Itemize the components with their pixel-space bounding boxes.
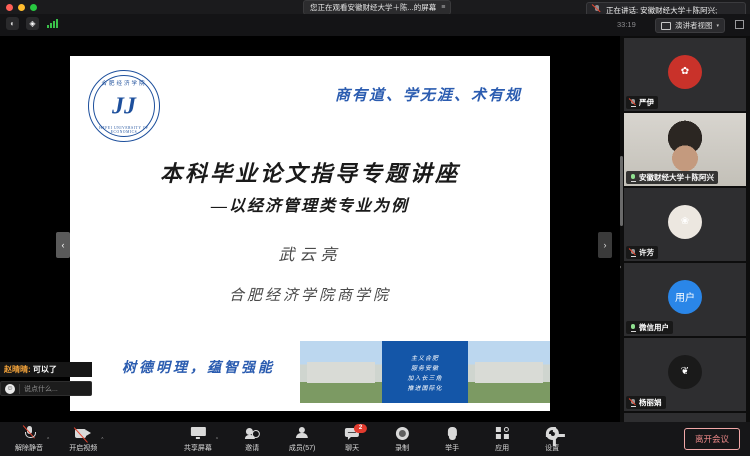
participant-namebar: 微信用户 <box>626 321 673 334</box>
logo-arc-top-text: 合肥经济学院 <box>89 79 159 87</box>
participant-name: 安徽财经大学＋陈阿兴 <box>639 172 714 183</box>
gear-icon <box>546 426 559 441</box>
invite-icon <box>245 426 260 441</box>
mic-on-icon <box>630 324 636 332</box>
unmute-button[interactable]: 解除静音 <box>12 426 46 453</box>
share-screen-button[interactable]: 共享屏幕 <box>181 426 215 453</box>
slide-subtitle: —以经济管理类专业为例 <box>70 192 550 216</box>
emoji-icon[interactable]: ☺ <box>5 384 15 394</box>
fullscreen-icon[interactable] <box>735 20 744 29</box>
chevron-down-icon[interactable]: ▾ <box>717 23 720 29</box>
share-screen-icon <box>190 426 205 441</box>
collapse-panel-button[interactable]: ‹ <box>56 232 70 258</box>
participant-name: 微信用户 <box>639 322 669 333</box>
security-icon[interactable]: ◈ <box>26 17 39 30</box>
logo-arc-bottom-text: HEFEI UNIVERSITY OF ECONOMICS <box>89 126 159 134</box>
shared-screen-stage: 合肥经济学院 JJ HEFEI UNIVERSITY OF ECONOMICS … <box>0 36 620 422</box>
mic-muted-icon <box>630 399 636 407</box>
shield-icon[interactable]: ◐ <box>6 17 19 30</box>
campus-slogan-panel: 主义合肥 服务安徽 加入长三角 推进国际化 <box>382 341 468 403</box>
chat-input[interactable]: ☺ 说点什么... <box>0 381 92 396</box>
record-label: 录制 <box>395 443 409 453</box>
participant-tile[interactable]: ✿ 严伊 <box>624 38 746 111</box>
avatar: ❀ <box>668 205 702 239</box>
slide-affiliation: 合肥经济学院商学院 <box>70 284 550 305</box>
slide-motto-top: 商有道、学无涯、术有规 <box>335 84 522 105</box>
chat-button[interactable]: 2 聊天 <box>335 426 369 453</box>
unmute-label: 解除静音 <box>15 443 43 453</box>
participant-namebar: 杨丽娟 <box>626 396 666 409</box>
campus-slogan-line-2: 服务安徽 <box>411 363 439 372</box>
start-video-button[interactable]: 开启视频 <box>66 426 100 453</box>
chat-overlay: 赵晴晴: 可以了 ☺ 说点什么... <box>0 362 92 396</box>
system-tray-icons: ◐ ◈ <box>6 17 59 30</box>
campus-slogan-line-1: 主义合肥 <box>411 353 439 362</box>
chat-unread-badge: 2 <box>354 424 367 433</box>
share-options-chevron-icon[interactable]: ⌃ <box>215 437 219 443</box>
apps-button[interactable]: 应用 <box>485 426 519 453</box>
main-toolbar-actions: 共享屏幕 ⌃ 邀请 成员(57) 2 聊天 录制 <box>181 426 569 453</box>
slide-presenter-name: 武云亮 <box>70 241 550 265</box>
participant-name: 严伊 <box>639 97 654 108</box>
participants-button[interactable]: 成员(57) <box>285 426 319 453</box>
campus-photo-strip: 主义合肥 服务安徽 加入长三角 推进国际化 <box>300 341 550 403</box>
record-icon <box>396 426 409 441</box>
apps-grid-icon <box>496 426 509 441</box>
start-video-label: 开启视频 <box>69 443 97 453</box>
campus-slogan-line-3: 加入长三角 <box>407 373 442 382</box>
participants-icon <box>296 426 309 441</box>
rail-scrollbar[interactable] <box>620 156 623 226</box>
participant-tile[interactable]: ❦ 杨丽娟 <box>624 338 746 411</box>
close-window-icon[interactable] <box>6 4 13 11</box>
settings-button[interactable]: 设置 <box>535 426 569 453</box>
chat-message: 赵晴晴: 可以了 <box>0 362 92 377</box>
audio-video-controls: 解除静音 ⌃ 开启视频 ⌃ <box>12 426 104 453</box>
participant-tile[interactable]: 安徽财经大学＋陈阿兴 <box>624 113 746 186</box>
meeting-toolbar: 解除静音 ⌃ 开启视频 ⌃ 共享屏幕 ⌃ 邀请 <box>0 422 750 456</box>
leave-meeting-button[interactable]: 离开会议 <box>684 428 740 450</box>
avatar: ✿ <box>668 55 702 89</box>
meeting-timer: 33:19 <box>617 20 636 29</box>
participant-tile[interactable]: ❀ 许芳 <box>624 188 746 261</box>
share-screen-group: 共享屏幕 ⌃ <box>181 426 219 453</box>
video-options-chevron-icon[interactable]: ⌃ <box>100 437 104 443</box>
record-button[interactable]: 录制 <box>385 426 419 453</box>
campus-slogan-line-4: 推进国际化 <box>407 383 442 392</box>
participant-tile[interactable]: 用户 微信用户 <box>624 263 746 336</box>
slide-title: 本科毕业论文指导专题讲座 <box>70 156 550 188</box>
participant-namebar: 安徽财经大学＋陈阿兴 <box>626 171 718 184</box>
mic-on-icon <box>630 174 636 182</box>
participant-name: 许芳 <box>639 247 654 258</box>
view-mode-switcher[interactable]: 演讲者视图 ▾ <box>655 18 725 33</box>
participant-namebar: 许芳 <box>626 246 658 259</box>
microphone-muted-icon <box>24 426 35 441</box>
raise-hand-button[interactable]: 举手 <box>435 426 469 453</box>
invite-label: 邀请 <box>245 443 259 453</box>
rail-expand-icon[interactable]: › <box>620 264 621 271</box>
avatar: ❦ <box>668 355 702 389</box>
share-screen-label: 共享屏幕 <box>184 443 212 453</box>
campus-photo-left <box>300 341 382 403</box>
participants-label: 成员(57) <box>289 443 315 453</box>
screen-share-notice-label: 您正在观看安徽财经大学＋陈...的屏幕 <box>310 2 436 13</box>
screen-share-menu-icon[interactable]: ≡ <box>441 4 444 11</box>
chat-label: 聊天 <box>345 443 359 453</box>
raise-hand-label: 举手 <box>445 443 459 453</box>
minimize-window-icon[interactable] <box>18 4 25 11</box>
view-mode-label: 演讲者视图 <box>675 20 713 31</box>
campus-photo-right <box>468 341 550 403</box>
signal-icon[interactable] <box>46 17 59 30</box>
mic-muted-icon <box>630 249 636 257</box>
presentation-slide: 合肥经济学院 JJ HEFEI UNIVERSITY OF ECONOMICS … <box>70 56 550 411</box>
camera-muted-icon <box>75 426 91 441</box>
maximize-window-icon[interactable] <box>30 4 37 11</box>
invite-button[interactable]: 邀请 <box>235 426 269 453</box>
participant-tile[interactable] <box>624 413 746 422</box>
speaker-view-icon <box>661 22 671 30</box>
chat-message-text: 可以了 <box>33 365 57 374</box>
participant-rail[interactable]: › ✿ 严伊 安徽财经大学＋陈阿兴 ❀ 许芳 用户 <box>620 36 750 422</box>
audio-options-chevron-icon[interactable]: ⌃ <box>46 437 50 443</box>
participant-namebar: 严伊 <box>626 96 658 109</box>
slide-motto-bottom: 树德明理，蕴智强能 <box>122 357 275 377</box>
screen-share-notice[interactable]: 您正在观看安徽财经大学＋陈...的屏幕 ≡ <box>303 0 451 15</box>
avatar: 用户 <box>668 280 702 314</box>
apps-label: 应用 <box>495 443 509 453</box>
logo-monogram: JJ <box>112 94 136 121</box>
raise-hand-icon <box>447 426 458 441</box>
zoom-meeting-window: 您正在观看安徽财经大学＋陈...的屏幕 ≡ 正在讲话: 安徽财经大学＋陈阿兴; … <box>0 0 750 456</box>
university-logo: 合肥经济学院 JJ HEFEI UNIVERSITY OF ECONOMICS <box>88 70 160 142</box>
chat-message-author: 赵晴晴: <box>4 365 31 374</box>
window-traffic-lights[interactable] <box>6 4 37 11</box>
next-page-button[interactable]: › <box>598 232 612 258</box>
mic-muted-icon <box>630 99 636 107</box>
status-strip: ◐ ◈ <box>0 14 750 36</box>
chat-input-placeholder[interactable]: 说点什么... <box>19 384 58 394</box>
participant-name: 杨丽娟 <box>639 397 662 408</box>
